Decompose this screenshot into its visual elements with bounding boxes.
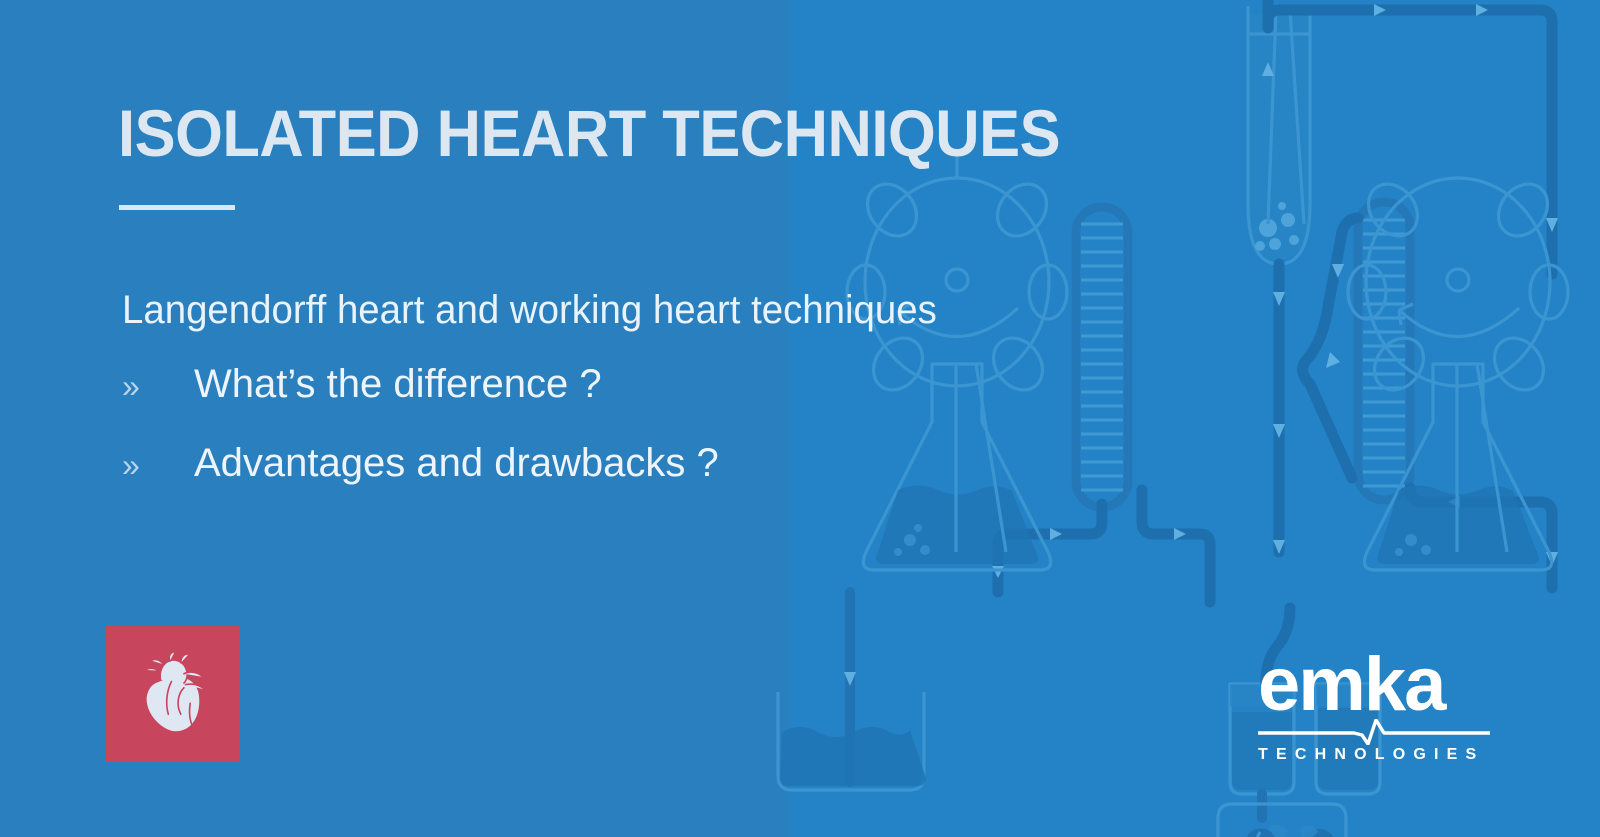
chevron-double-right-icon: » (122, 368, 194, 405)
chevron-double-right-icon: » (122, 447, 194, 484)
anatomical-heart-icon (134, 650, 212, 738)
slide-root: .tube { fill:none; stroke:#1d6fae; strok… (0, 0, 1600, 837)
emka-logo: emka TECHNOLOGIES (1258, 652, 1490, 764)
title-underline-rule (119, 205, 235, 210)
list-item: » Advantages and drawbacks ? (122, 441, 1022, 520)
list-item-label: Advantages and drawbacks ? (194, 441, 719, 486)
list-item-label: What’s the difference ? (194, 362, 602, 407)
list-item: » What’s the difference ? (122, 362, 1022, 441)
bullet-list: » What’s the difference ? » Advantages a… (122, 362, 1022, 520)
lead-paragraph: Langendorff heart and working heart tech… (122, 288, 937, 333)
logo-wordmark: emka (1258, 652, 1490, 717)
page-title: ISOLATED HEART TECHNIQUES (118, 100, 1060, 167)
heart-badge (105, 625, 240, 762)
logo-tagline: TECHNOLOGIES (1258, 746, 1490, 764)
